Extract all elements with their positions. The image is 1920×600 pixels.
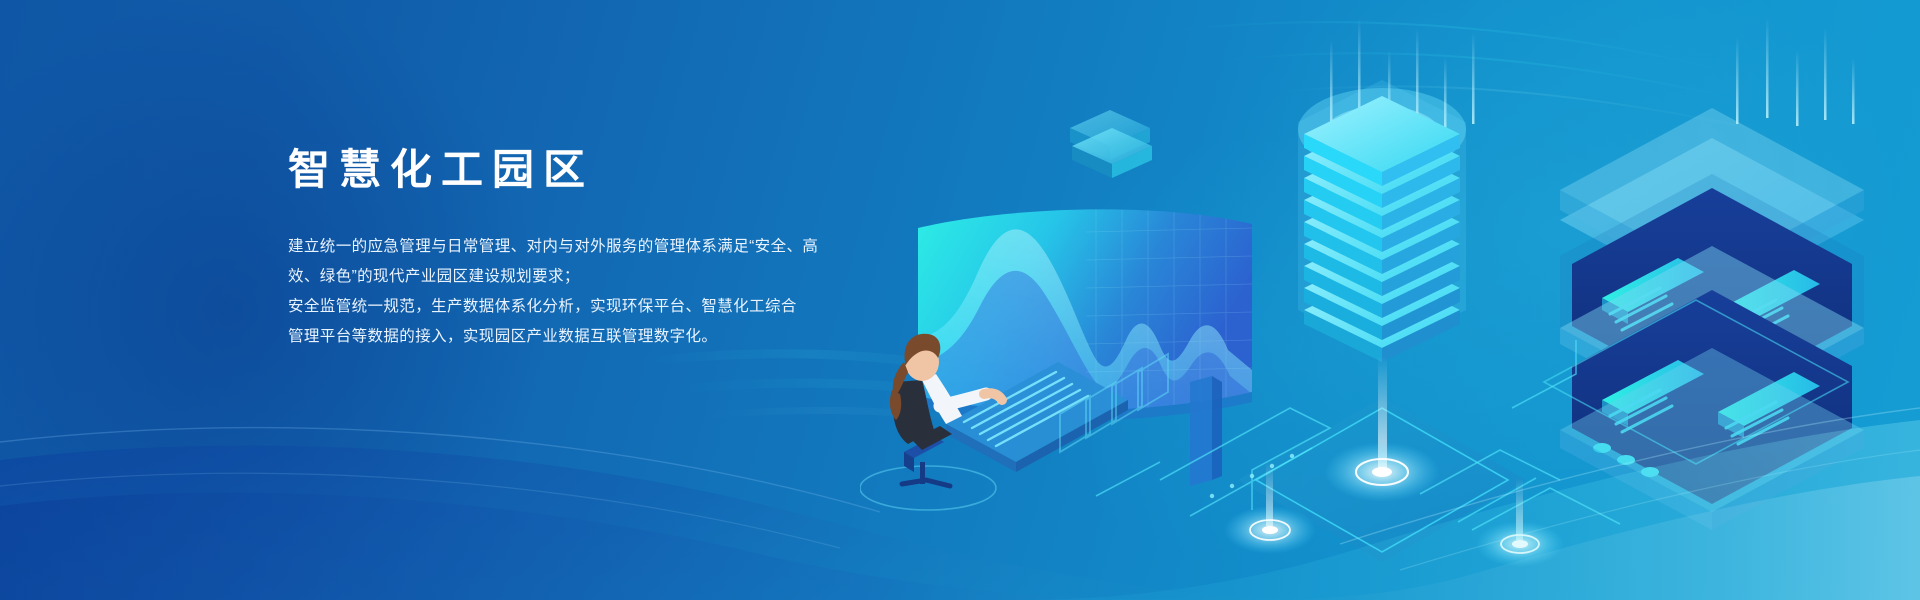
server-rack-cabinet: [1544, 18, 1864, 530]
hero-description: 建立统一的应急管理与日常管理、对内与对外服务的管理体系满足“安全、高 效、绿色”…: [288, 232, 888, 352]
page-title: 智慧化工园区: [288, 146, 888, 194]
floating-cube-stack-icon: [1070, 110, 1152, 178]
data-curve-screen: [900, 204, 1252, 486]
description-line-4: 管理平台等数据的接入，实现园区产业数据互联管理数字化。: [288, 322, 888, 352]
description-line-2: 效、绿色”的现代产业园区建设规划要求；: [288, 262, 888, 292]
description-line-3: 安全监管统一规范，生产数据体系化分析，实现环保平台、智慧化工综合: [288, 292, 888, 322]
description-line-1: 建立统一的应急管理与日常管理、对内与对外服务的管理体系满足“安全、高: [288, 232, 888, 262]
hero-content: 智慧化工园区 建立统一的应急管理与日常管理、对内与对外服务的管理体系满足“安全、…: [288, 146, 888, 352]
tower-discs: [1304, 96, 1460, 362]
hero-banner: 智慧化工园区 建立统一的应急管理与日常管理、对内与对外服务的管理体系满足“安全、…: [0, 0, 1920, 600]
illustration-smart-park: [860, 10, 1920, 600]
server-tower: [1238, 18, 1526, 562]
rack-data-rain: [1736, 18, 1855, 126]
